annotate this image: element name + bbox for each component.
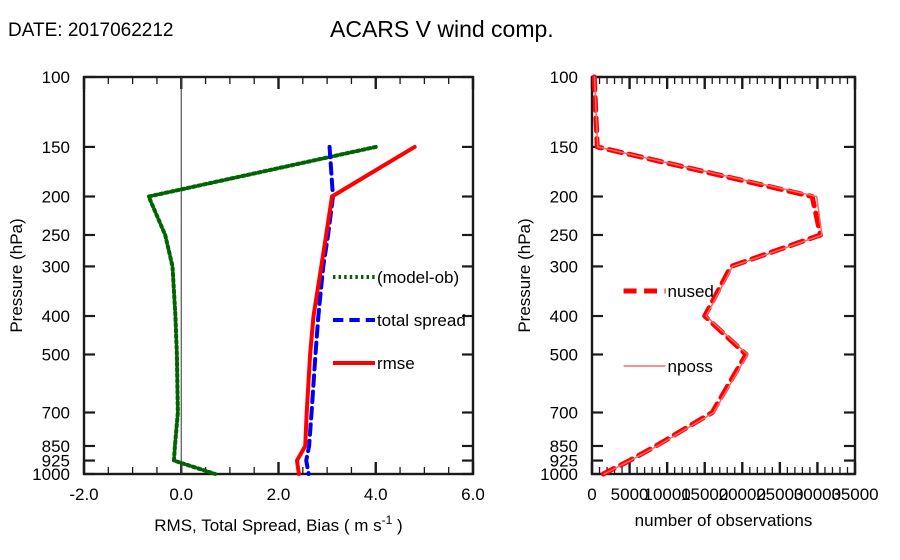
legend-label: rmse — [377, 354, 415, 373]
x-tick-label: 35000 — [831, 485, 878, 504]
y-axis-label: Pressure (hPa) — [515, 218, 534, 332]
right-panel: 0500010000150002000025000300003500010015… — [515, 68, 879, 530]
y-tick-label: 400 — [42, 307, 70, 326]
y-tick-label: 100 — [550, 68, 578, 87]
x-tick-label: 0.0 — [169, 485, 193, 504]
x-tick-label: -2.0 — [69, 485, 98, 504]
y-tick-label: 1000 — [32, 465, 70, 484]
y-axis-label: Pressure (hPa) — [7, 218, 26, 332]
x-tick-label: 2.0 — [267, 485, 291, 504]
legend-label: total spread — [377, 311, 466, 330]
legend-label: nused — [668, 282, 714, 301]
series-line — [594, 77, 820, 474]
legend-label: (model-ob) — [377, 268, 459, 287]
y-tick-label: 400 — [550, 307, 578, 326]
x-tick-label: 0 — [587, 485, 596, 504]
y-tick-label: 500 — [550, 345, 578, 364]
y-tick-label: 150 — [550, 138, 578, 157]
left-panel: -2.00.02.04.06.0100150200250300400500700… — [7, 68, 485, 535]
series-line — [306, 147, 333, 474]
chart-canvas: -2.00.02.04.06.0100150200250300400500700… — [0, 0, 900, 560]
x-tick-label: 4.0 — [364, 485, 388, 504]
y-tick-label: 150 — [42, 138, 70, 157]
y-tick-label: 300 — [550, 257, 578, 276]
x-axis-label: number of observations — [635, 511, 813, 530]
legend-label: nposs — [668, 357, 713, 376]
y-tick-label: 1000 — [540, 465, 578, 484]
y-tick-label: 100 — [42, 68, 70, 87]
y-tick-label: 700 — [42, 404, 70, 423]
x-tick-label: 6.0 — [461, 485, 485, 504]
series-line — [149, 147, 376, 474]
y-tick-label: 700 — [550, 404, 578, 423]
y-tick-label: 500 — [42, 345, 70, 364]
y-tick-label: 250 — [42, 226, 70, 245]
y-tick-label: 300 — [42, 257, 70, 276]
y-tick-label: 250 — [550, 226, 578, 245]
x-axis-label: RMS, Total Spread, Bias ( m s-1 ) — [154, 513, 402, 535]
y-tick-label: 200 — [550, 188, 578, 207]
y-tick-label: 200 — [42, 188, 70, 207]
